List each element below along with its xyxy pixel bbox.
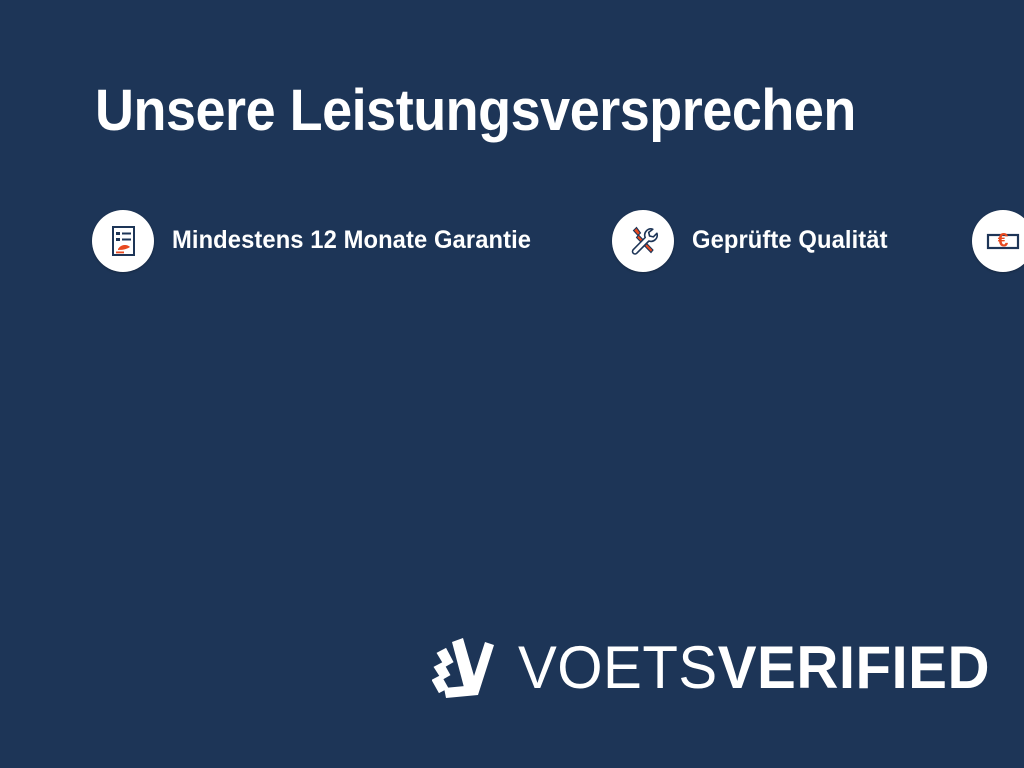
feature-item-finanzierung: € Finanzierung	[972, 198, 1024, 283]
feature-label: Mindestens 12 Monate Garantie	[172, 226, 531, 255]
wrench-screwdriver-icon	[612, 210, 674, 272]
voets-v-mark-icon	[432, 632, 494, 704]
euro-banknote-icon: €	[972, 210, 1024, 272]
logo-text-voets: VOETS	[518, 634, 718, 701]
feature-item-garantie: Mindestens 12 Monate Garantie	[92, 198, 612, 283]
page-title: Unsere Leistungsversprechen	[95, 82, 856, 140]
feature-list: Mindestens 12 Monate Garantie Geprüfte Q…	[92, 198, 972, 283]
svg-text:€: €	[998, 230, 1009, 251]
logo-wordmark: VOETSVERIFIED	[518, 638, 990, 698]
brand-logo: VOETSVERIFIED	[432, 632, 1005, 704]
feature-item-qualitaet: Geprüfte Qualität	[612, 198, 972, 283]
certificate-document-icon	[92, 210, 154, 272]
logo-text-verified: VERIFIED	[718, 634, 990, 701]
feature-label: Geprüfte Qualität	[692, 226, 888, 255]
promo-banner: Unsere Leistungsversprechen Mindestens 1…	[0, 0, 1024, 768]
